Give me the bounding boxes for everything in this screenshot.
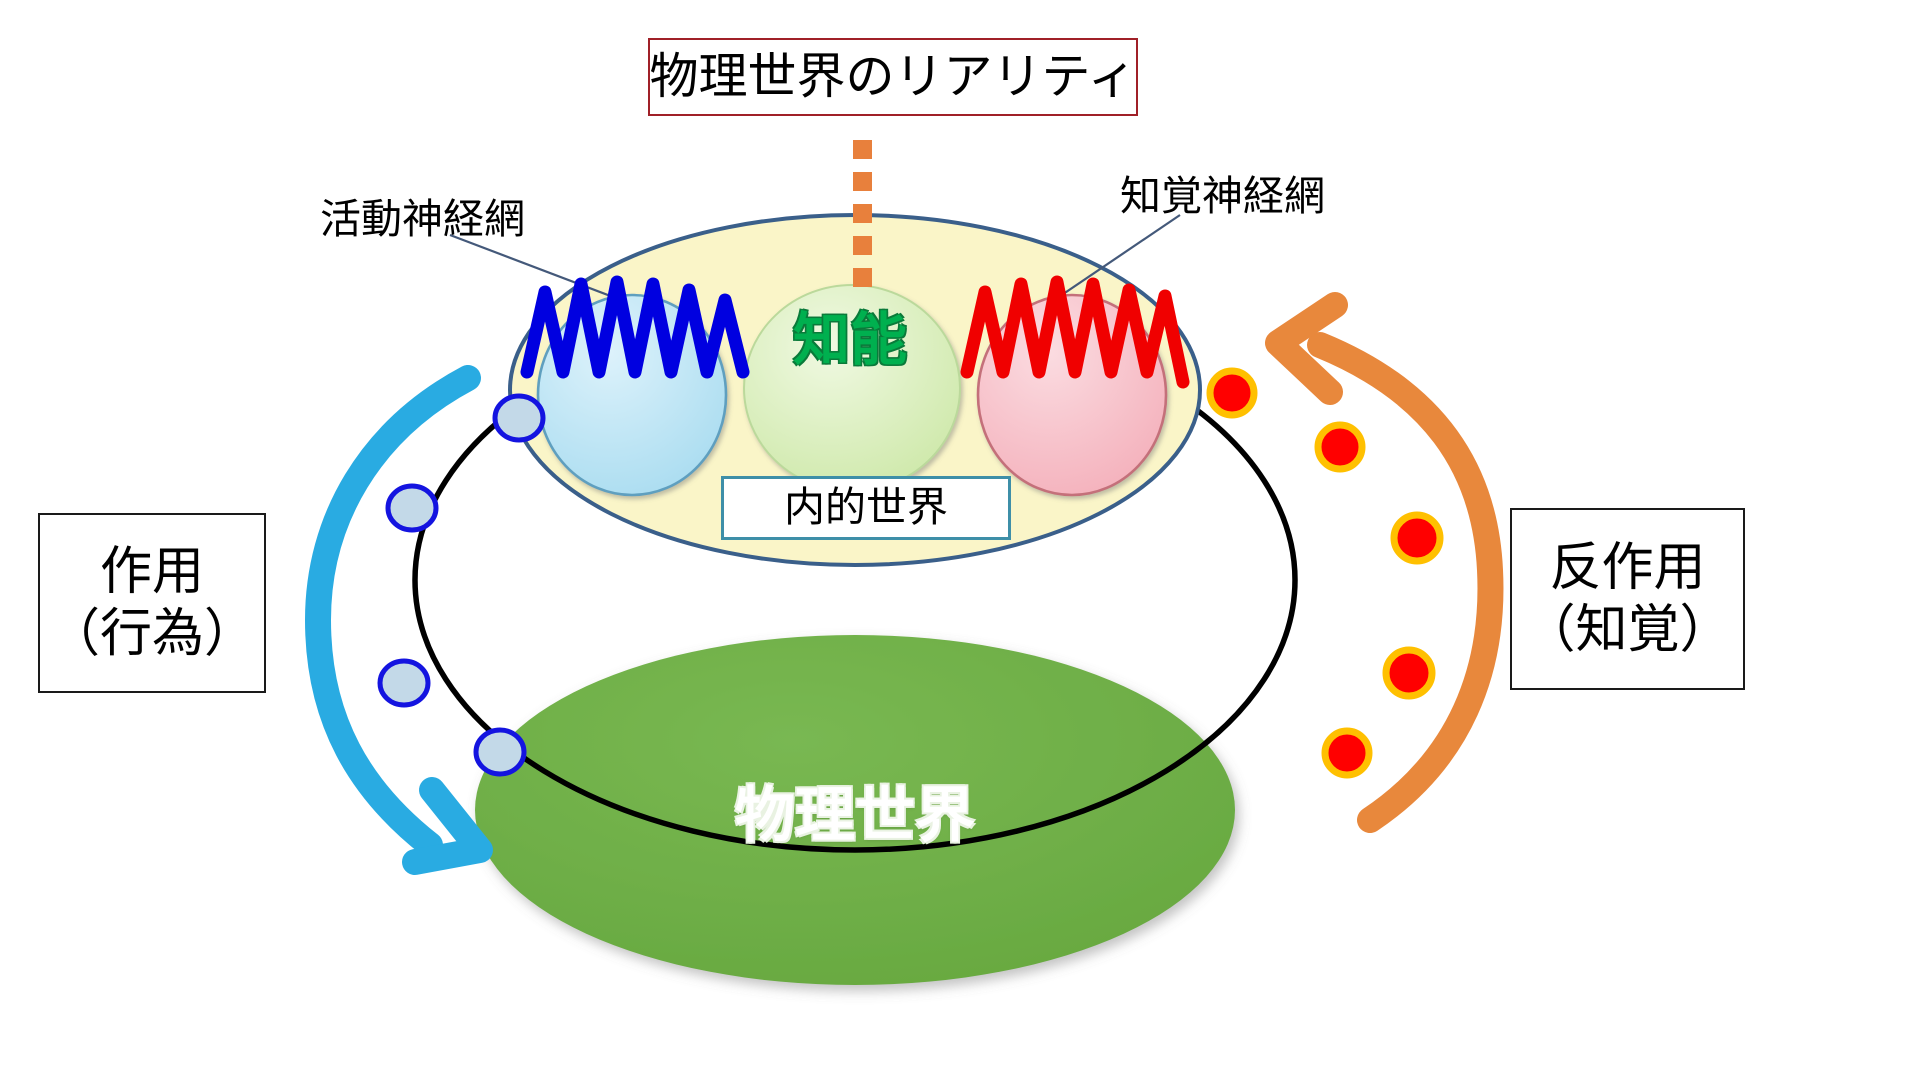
reality-title-box: 物理世界のリアリティ: [648, 38, 1138, 116]
action-label-line2: （行為）: [48, 605, 256, 663]
perception-node-group: [1210, 371, 1440, 775]
action-node: [388, 486, 436, 530]
action-node: [476, 730, 524, 774]
action-arrow: [318, 378, 480, 862]
motor-network-label: 活動神経網: [320, 185, 525, 245]
perception-node: [1394, 515, 1440, 561]
reality-title-text: 物理世界のリアリティ: [649, 50, 1136, 105]
intelligence-label: 知能: [760, 300, 940, 370]
reaction-label-line1: 反作用: [1549, 539, 1705, 597]
reaction-label-box: 反作用 （知覚）: [1510, 508, 1745, 690]
perception-node: [1386, 650, 1432, 696]
perception-node: [1318, 425, 1362, 469]
physical-world-label: 物理世界: [690, 770, 1020, 850]
sensory-network-label: 知覚神経網: [1120, 162, 1325, 222]
perception-node: [1325, 731, 1369, 775]
inner-world-label: 内的世界: [784, 485, 948, 531]
action-node: [495, 396, 543, 440]
action-label-box: 作用 （行為）: [38, 513, 266, 693]
inner-world-box: 内的世界: [721, 476, 1011, 540]
diagram-canvas: 物理世界のリアリティ 活動神経網 知覚神経網 知能 内的世界 物理世界 作用 （…: [0, 0, 1920, 1080]
perception-node: [1210, 371, 1254, 415]
reaction-arrow: [1278, 305, 1490, 820]
action-label-line1: 作用: [100, 543, 204, 601]
action-node: [380, 661, 428, 705]
reaction-label-line2: （知覚）: [1523, 601, 1731, 659]
action-node-group: [380, 396, 543, 774]
